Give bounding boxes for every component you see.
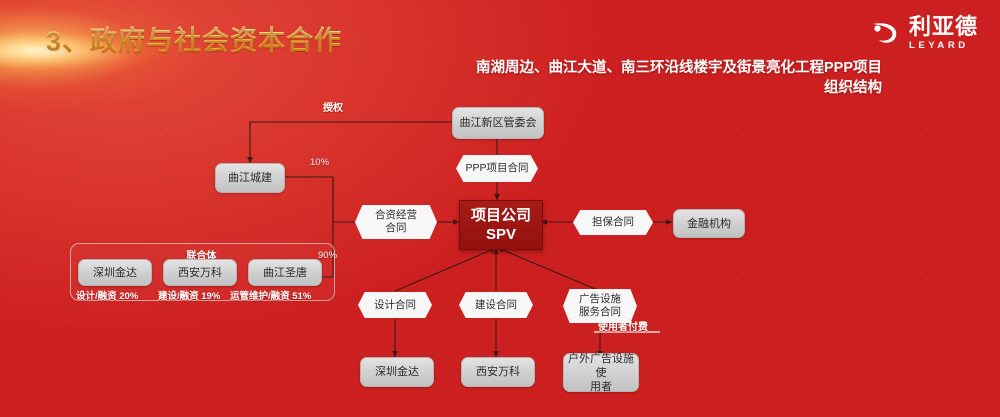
label-percent-10: 10% (310, 157, 329, 168)
contract-guarantee[interactable]: 担保合同 (573, 210, 653, 235)
node-spv[interactable]: 项目公司 SPV (459, 200, 543, 250)
member-note-xian: 建设/融资 19% (158, 288, 220, 302)
node-member-xian-label: 西安万科 (178, 266, 222, 280)
contract-design-label: 设计合同 (374, 299, 416, 312)
node-bottom-shenzhen[interactable]: 深圳金达 (360, 357, 434, 387)
node-member-shengtang-label: 曲江圣唐 (263, 266, 307, 280)
contract-guarantee-label: 担保合同 (592, 216, 634, 229)
node-spv-line-2: SPV (486, 225, 516, 244)
node-bottom-shenzhen-label: 深圳金达 (375, 365, 419, 379)
node-spv-line-1: 项目公司 (471, 206, 531, 225)
node-member-shengtang[interactable]: 曲江圣唐 (248, 259, 322, 286)
node-member-shenzhen-label: 深圳金达 (93, 266, 137, 280)
node-member-shenzhen[interactable]: 深圳金达 (78, 259, 152, 286)
member-note-shenzhen: 设计/融资 20% (76, 288, 138, 302)
presentation-slide: 3、政府与社会资本合作 南湖周边、曲江大道、南三环沿线楼宇及街景亮化工程PPP项… (0, 0, 1000, 417)
contract-construction-label: 建设合同 (475, 299, 517, 312)
node-financial-institution[interactable]: 金融机构 (673, 209, 745, 238)
node-qujiang-chengjian[interactable]: 曲江城建 (215, 163, 285, 193)
contract-ppp[interactable]: PPP项目合同 (456, 155, 538, 182)
node-authority-label: 曲江新区管委会 (460, 116, 537, 130)
contract-joint-venture-line-2: 合同 (386, 222, 407, 235)
node-qujiang-chengjian-label: 曲江城建 (228, 171, 272, 185)
label-user-payment: 使用者付费 (598, 318, 648, 333)
node-authority[interactable]: 曲江新区管委会 (452, 107, 544, 139)
contract-design[interactable]: 设计合同 (358, 292, 432, 318)
node-bottom-ad-user-line-2: 用者 (590, 380, 612, 394)
contract-construction[interactable]: 建设合同 (459, 292, 533, 318)
member-note-shengtang: 运管维护/融资 51% (230, 288, 311, 302)
contract-ppp-label: PPP项目合同 (465, 162, 528, 175)
org-structure-diagram: 曲江新区管委会 授权 PPP项目合同 曲江城建 10% 90% 合资经营 合同 … (0, 0, 1000, 417)
node-bottom-xian-label: 西安万科 (476, 365, 520, 379)
node-bottom-ad-user[interactable]: 户外广告设施使 用者 (563, 353, 639, 392)
contract-ad-service-line-1: 广告设施 (579, 293, 621, 306)
node-bottom-ad-user-line-1: 户外广告设施使 (564, 352, 638, 380)
contract-joint-venture-line-1: 合资经营 (375, 209, 417, 222)
label-authorize: 授权 (323, 99, 343, 114)
node-bottom-xian[interactable]: 西安万科 (461, 357, 535, 387)
node-financial-institution-label: 金融机构 (687, 217, 731, 231)
contract-joint-venture[interactable]: 合资经营 合同 (355, 205, 437, 239)
node-member-xian[interactable]: 西安万科 (163, 259, 237, 286)
